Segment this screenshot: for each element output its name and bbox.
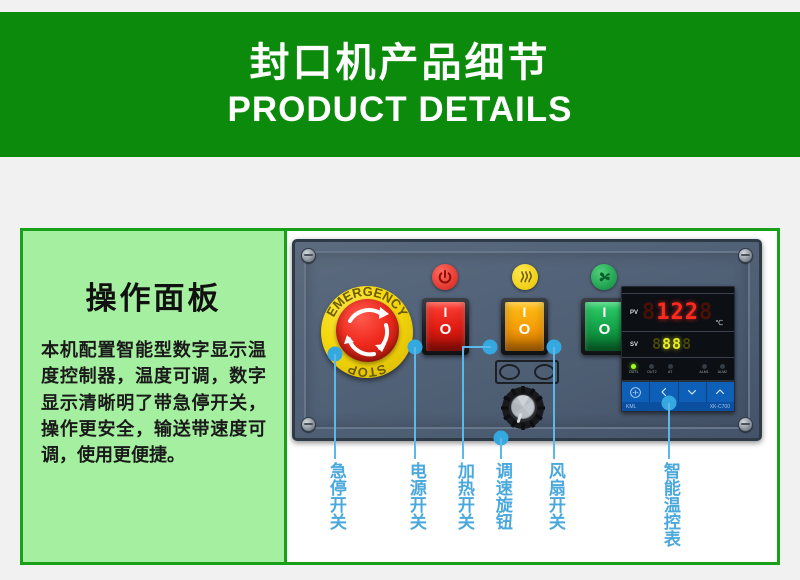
callout-label-heat: 加热开关	[454, 462, 472, 530]
power-switch[interactable]: I O	[422, 298, 469, 355]
speed-knob-plate	[495, 360, 559, 384]
fan-switch-face: I O	[585, 302, 624, 351]
switch-mark-on: I	[426, 305, 465, 319]
temperature-controller[interactable]: PV 81228 ℃ SV 8888 OUT1 OUT2	[621, 286, 735, 412]
tc-pv-row: PV 81228 ℃	[622, 293, 734, 332]
tc-brand-left: KML	[626, 404, 636, 410]
led-indicator	[668, 364, 673, 369]
tc-brand-right: XK-C700	[710, 404, 730, 410]
tc-pv-tag: PV	[630, 310, 642, 316]
plate-hole-right	[534, 364, 555, 380]
tc-left-button[interactable]	[650, 382, 678, 402]
info-panel-title: 操作面板	[41, 273, 266, 318]
callout-label-power: 电源开关	[406, 462, 424, 530]
led-indicator	[720, 364, 725, 369]
info-panel: 操作面板 本机配置智能型数字显示温度控制器，温度可调，数字显示清晰明了带急停开关…	[23, 231, 287, 562]
content-card: 操作面板 本机配置智能型数字显示温度控制器，温度可调，数字显示清晰明了带急停开关…	[20, 228, 780, 565]
tc-led-out2: OUT2	[646, 364, 657, 374]
emergency-stop-button[interactable]: EMERGENCY STOP	[321, 286, 413, 378]
machine-control-panel: EMERGENCY STOP	[292, 239, 762, 441]
chevron-up-icon	[714, 386, 726, 398]
led-indicator	[702, 364, 707, 369]
screw-icon	[301, 248, 316, 263]
tc-pv-trailing: 8	[699, 300, 713, 325]
power-icon	[432, 264, 458, 290]
tc-sv-display: 8888	[652, 337, 692, 352]
tc-pv-leading: 8	[642, 300, 656, 325]
callout-label-speed: 调速旋钮	[492, 462, 510, 530]
callout-label-temp: 智能温控表	[660, 462, 678, 547]
screw-icon	[738, 248, 753, 263]
tc-pv-display: 81228	[642, 302, 713, 324]
control-panel-photo: EMERGENCY STOP	[287, 231, 777, 562]
tc-unit-label: ℃	[715, 319, 723, 327]
tc-sv-trailing: 8	[682, 335, 692, 353]
chevron-down-icon	[686, 386, 698, 398]
tc-led-at: AT	[665, 364, 676, 374]
tc-down-button[interactable]	[679, 382, 707, 402]
tc-brand-bar: KML XK-C700	[622, 402, 734, 411]
header-banner: 封口机产品细节 PRODUCT DETAILS	[0, 12, 800, 157]
led-indicator	[631, 364, 636, 369]
led-indicator	[649, 364, 654, 369]
chevron-left-icon	[658, 386, 670, 398]
screw-icon	[301, 417, 316, 432]
tc-led-label: ALM2	[718, 370, 727, 374]
power-switch-face: I O	[426, 302, 465, 351]
switch-mark-off: O	[585, 322, 624, 337]
tc-led-alm2: ALM2	[717, 364, 728, 374]
set-icon	[629, 386, 642, 399]
tc-up-button[interactable]	[707, 382, 734, 402]
tc-set-button[interactable]	[622, 382, 650, 402]
heat-switch-face: I O	[505, 302, 544, 351]
heat-switch[interactable]: I O	[501, 298, 548, 355]
tc-sv-value: 88	[662, 335, 682, 353]
svg-text:STOP: STOP	[345, 361, 388, 378]
header-title-en: PRODUCT DETAILS	[228, 92, 573, 127]
callout-line-speed	[500, 438, 502, 459]
tc-sv-row: SV 8888	[622, 332, 734, 358]
tc-led-alm1: ALM1	[698, 364, 709, 374]
tc-sv-tag: SV	[630, 342, 642, 348]
info-panel-body: 本机配置智能型数字显示温度控制器，温度可调，数字显示清晰明了带急停开关，操作更安…	[41, 338, 266, 469]
tc-led-label: OUT1	[629, 370, 639, 374]
header-title-cn: 封口机产品细节	[250, 42, 551, 84]
switch-mark-on: I	[505, 305, 544, 319]
callout-label-fan: 风扇开关	[545, 462, 563, 530]
tc-led-label: AT	[668, 370, 672, 374]
callout-label-emergency: 急停开关	[326, 462, 344, 530]
tc-button-row	[622, 381, 734, 402]
emergency-stop-cap[interactable]	[336, 299, 399, 362]
screw-icon	[738, 417, 753, 432]
switch-mark-off: O	[505, 322, 544, 337]
heat-icon	[512, 264, 538, 290]
switch-mark-off: O	[426, 322, 465, 337]
switch-mark-on: I	[585, 305, 624, 319]
speed-knob[interactable]	[499, 384, 547, 432]
tc-sv-leading: 8	[652, 335, 662, 353]
plate-hole-left	[499, 364, 520, 380]
tc-led-label: ALM1	[699, 370, 708, 374]
tc-led-out1: OUT1	[628, 364, 639, 374]
tc-pv-value: 122	[656, 300, 699, 325]
rotate-arrows-icon	[336, 299, 399, 362]
tc-led-label: OUT2	[647, 370, 657, 374]
fan-icon	[591, 264, 617, 290]
tc-led-row: OUT1 OUT2 AT ALM1	[622, 358, 734, 381]
